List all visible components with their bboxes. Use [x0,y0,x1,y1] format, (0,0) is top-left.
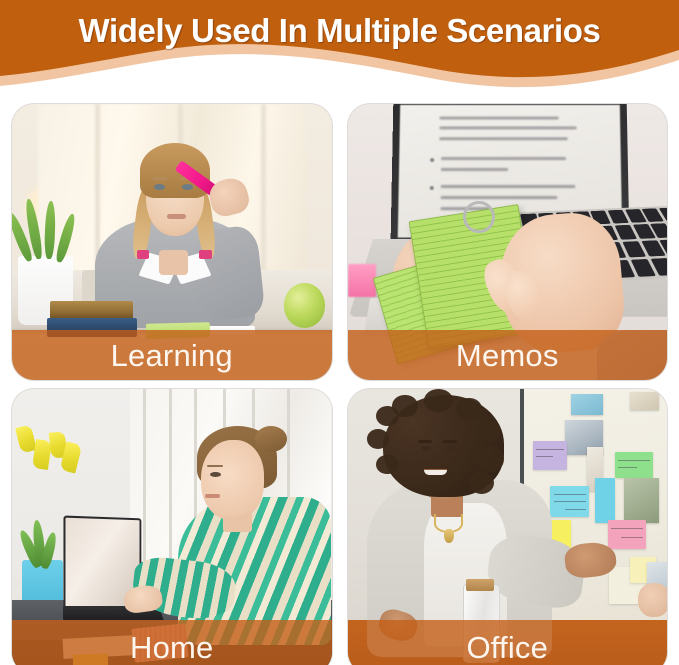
page-title: Widely Used In Multiple Scenarios [0,12,679,50]
card-label-bar-office: Office [348,620,668,665]
scenario-card-office[interactable]: Office [348,389,668,665]
card-label-text-home: Home [130,632,214,663]
card-label-text-memos: Memos [456,340,559,371]
card-label-text-office: Office [466,632,548,663]
product-infographic: Widely Used In Multiple Scenarios [0,0,679,665]
header-banner: Widely Used In Multiple Scenarios [0,0,679,96]
scenario-grid: Learning [0,104,679,665]
scenario-card-home[interactable]: Home [12,389,332,665]
memo-ring-binder [463,201,495,233]
card-label-bar-memos: Memos [348,330,668,380]
scenario-card-learning[interactable]: Learning [12,104,332,380]
card-label-text-learning: Learning [111,340,233,371]
card-label-bar-learning: Learning [12,330,332,380]
card-label-bar-home: Home [12,620,332,665]
scenario-card-memos[interactable]: Memos [348,104,668,380]
